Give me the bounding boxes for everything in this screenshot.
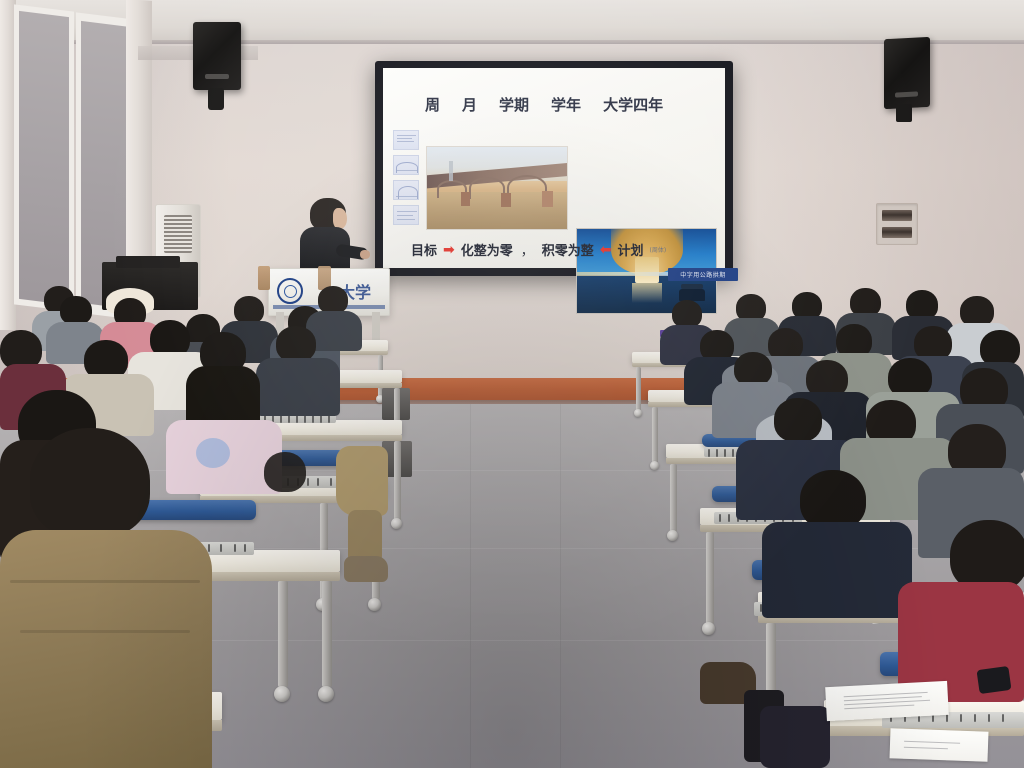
caster-l3b bbox=[391, 518, 402, 529]
student-head bbox=[264, 452, 306, 492]
pencil-case[interactable] bbox=[976, 666, 1011, 694]
caster-r4a bbox=[702, 622, 715, 635]
backpack bbox=[760, 706, 830, 768]
caster-l5b bbox=[318, 686, 334, 702]
student-head bbox=[800, 470, 866, 530]
jacket-pattern bbox=[196, 438, 230, 468]
thumbnail-3 bbox=[393, 180, 419, 200]
slide-term-year: 学年 bbox=[551, 94, 581, 115]
vent-louver-2 bbox=[882, 227, 912, 238]
floor-tile-line-v2 bbox=[560, 404, 561, 768]
student-head bbox=[672, 300, 702, 328]
thumbnail-2 bbox=[393, 155, 419, 175]
desk-leg-r3a bbox=[670, 464, 677, 532]
caster-l4b bbox=[368, 598, 381, 611]
student-torso-foreground bbox=[0, 530, 212, 768]
caster-r3a bbox=[667, 530, 678, 541]
thumbnail-1 bbox=[393, 130, 419, 150]
slide-thumbnail-column bbox=[393, 130, 419, 225]
arrow-left-icon: ⬅ bbox=[600, 242, 612, 258]
slide-term-month: 月 bbox=[462, 94, 477, 115]
projection-screen[interactable]: 周 月 学期 学年 大学四年 bbox=[375, 61, 733, 276]
student-head bbox=[734, 352, 772, 386]
slide-term-term: 学期 bbox=[499, 94, 529, 115]
caster-l5a bbox=[274, 686, 290, 702]
speaker-port-icon-right bbox=[895, 91, 918, 97]
left-seating-block bbox=[0, 0, 168, 53]
floor-tile-line-v1 bbox=[470, 404, 471, 768]
caption-comma: ， bbox=[521, 240, 534, 259]
lectern-side-panel-left bbox=[258, 266, 270, 290]
ac-grille-icon bbox=[164, 215, 192, 253]
handwritten-notes[interactable] bbox=[890, 728, 989, 761]
desk-leg-l3b bbox=[394, 441, 401, 521]
student-torso bbox=[256, 358, 340, 416]
caption-plan-label: 计划 bbox=[618, 240, 644, 259]
desk-leg-r4a bbox=[706, 532, 714, 624]
student-head bbox=[276, 326, 316, 362]
student-torso bbox=[762, 522, 912, 618]
wall-speaker-right bbox=[884, 37, 930, 109]
printed-handout[interactable] bbox=[825, 681, 949, 721]
desk-leg-r2a bbox=[652, 407, 658, 463]
desk-leg-l5a bbox=[278, 581, 288, 687]
speaker-port-icon bbox=[205, 74, 229, 79]
thumbnail-4 bbox=[393, 205, 419, 225]
lecture-hall-photo: 周 月 学期 学年 大学四年 bbox=[0, 0, 1024, 768]
caption-right-phrase: 积零为整 bbox=[542, 240, 594, 259]
screen-watermark-band: 中字用公路拱期 bbox=[668, 268, 738, 281]
caption-goal-label: 目标 bbox=[411, 240, 437, 259]
vent-louver-1 bbox=[882, 210, 912, 221]
presenter-hand bbox=[360, 250, 370, 259]
wall-speaker-left bbox=[193, 22, 241, 90]
av-equipment-top bbox=[116, 256, 180, 268]
speaker-mount-bracket-left bbox=[208, 88, 224, 110]
student-head bbox=[774, 398, 822, 442]
screen-watermark-text: 中字用公路拱期 bbox=[680, 270, 726, 279]
slide-term-fouryears: 大学四年 bbox=[603, 94, 663, 115]
student-legs-khaki bbox=[336, 446, 388, 516]
slide-caption: 目标 ➡ 化整为零 ， 积零为整 ⬅ 计划 (周体) bbox=[411, 240, 666, 259]
slide-term-week: 周 bbox=[425, 94, 440, 115]
student-head bbox=[234, 296, 264, 324]
slide-heading: 周 月 学期 学年 大学四年 bbox=[425, 94, 663, 115]
student-head bbox=[60, 296, 92, 325]
projection-screen-surface: 周 月 学期 学年 大学四年 bbox=[383, 68, 725, 268]
window-curtain-1 bbox=[19, 11, 69, 305]
caption-annotation: (周体) bbox=[650, 245, 667, 254]
caster-r1a bbox=[634, 409, 642, 417]
student-head bbox=[318, 286, 348, 314]
speaker-mount-bracket-right bbox=[896, 104, 912, 122]
student-shoe bbox=[344, 556, 388, 582]
caption-left-phrase: 化整为零 bbox=[461, 240, 513, 259]
arrow-right-icon: ➡ bbox=[443, 242, 455, 258]
desk-leg-r1a bbox=[636, 367, 641, 411]
jacket-fold bbox=[10, 580, 200, 583]
lectern-seal-icon bbox=[277, 278, 303, 304]
jacket-fold bbox=[20, 630, 190, 633]
desk-leg-l5b bbox=[322, 581, 332, 687]
caster-r2a bbox=[650, 461, 659, 470]
wall-air-vent bbox=[876, 203, 918, 245]
slide-photo-day-bridge bbox=[426, 146, 568, 230]
presenter-face bbox=[333, 208, 347, 229]
student-head-foreground bbox=[30, 428, 150, 538]
